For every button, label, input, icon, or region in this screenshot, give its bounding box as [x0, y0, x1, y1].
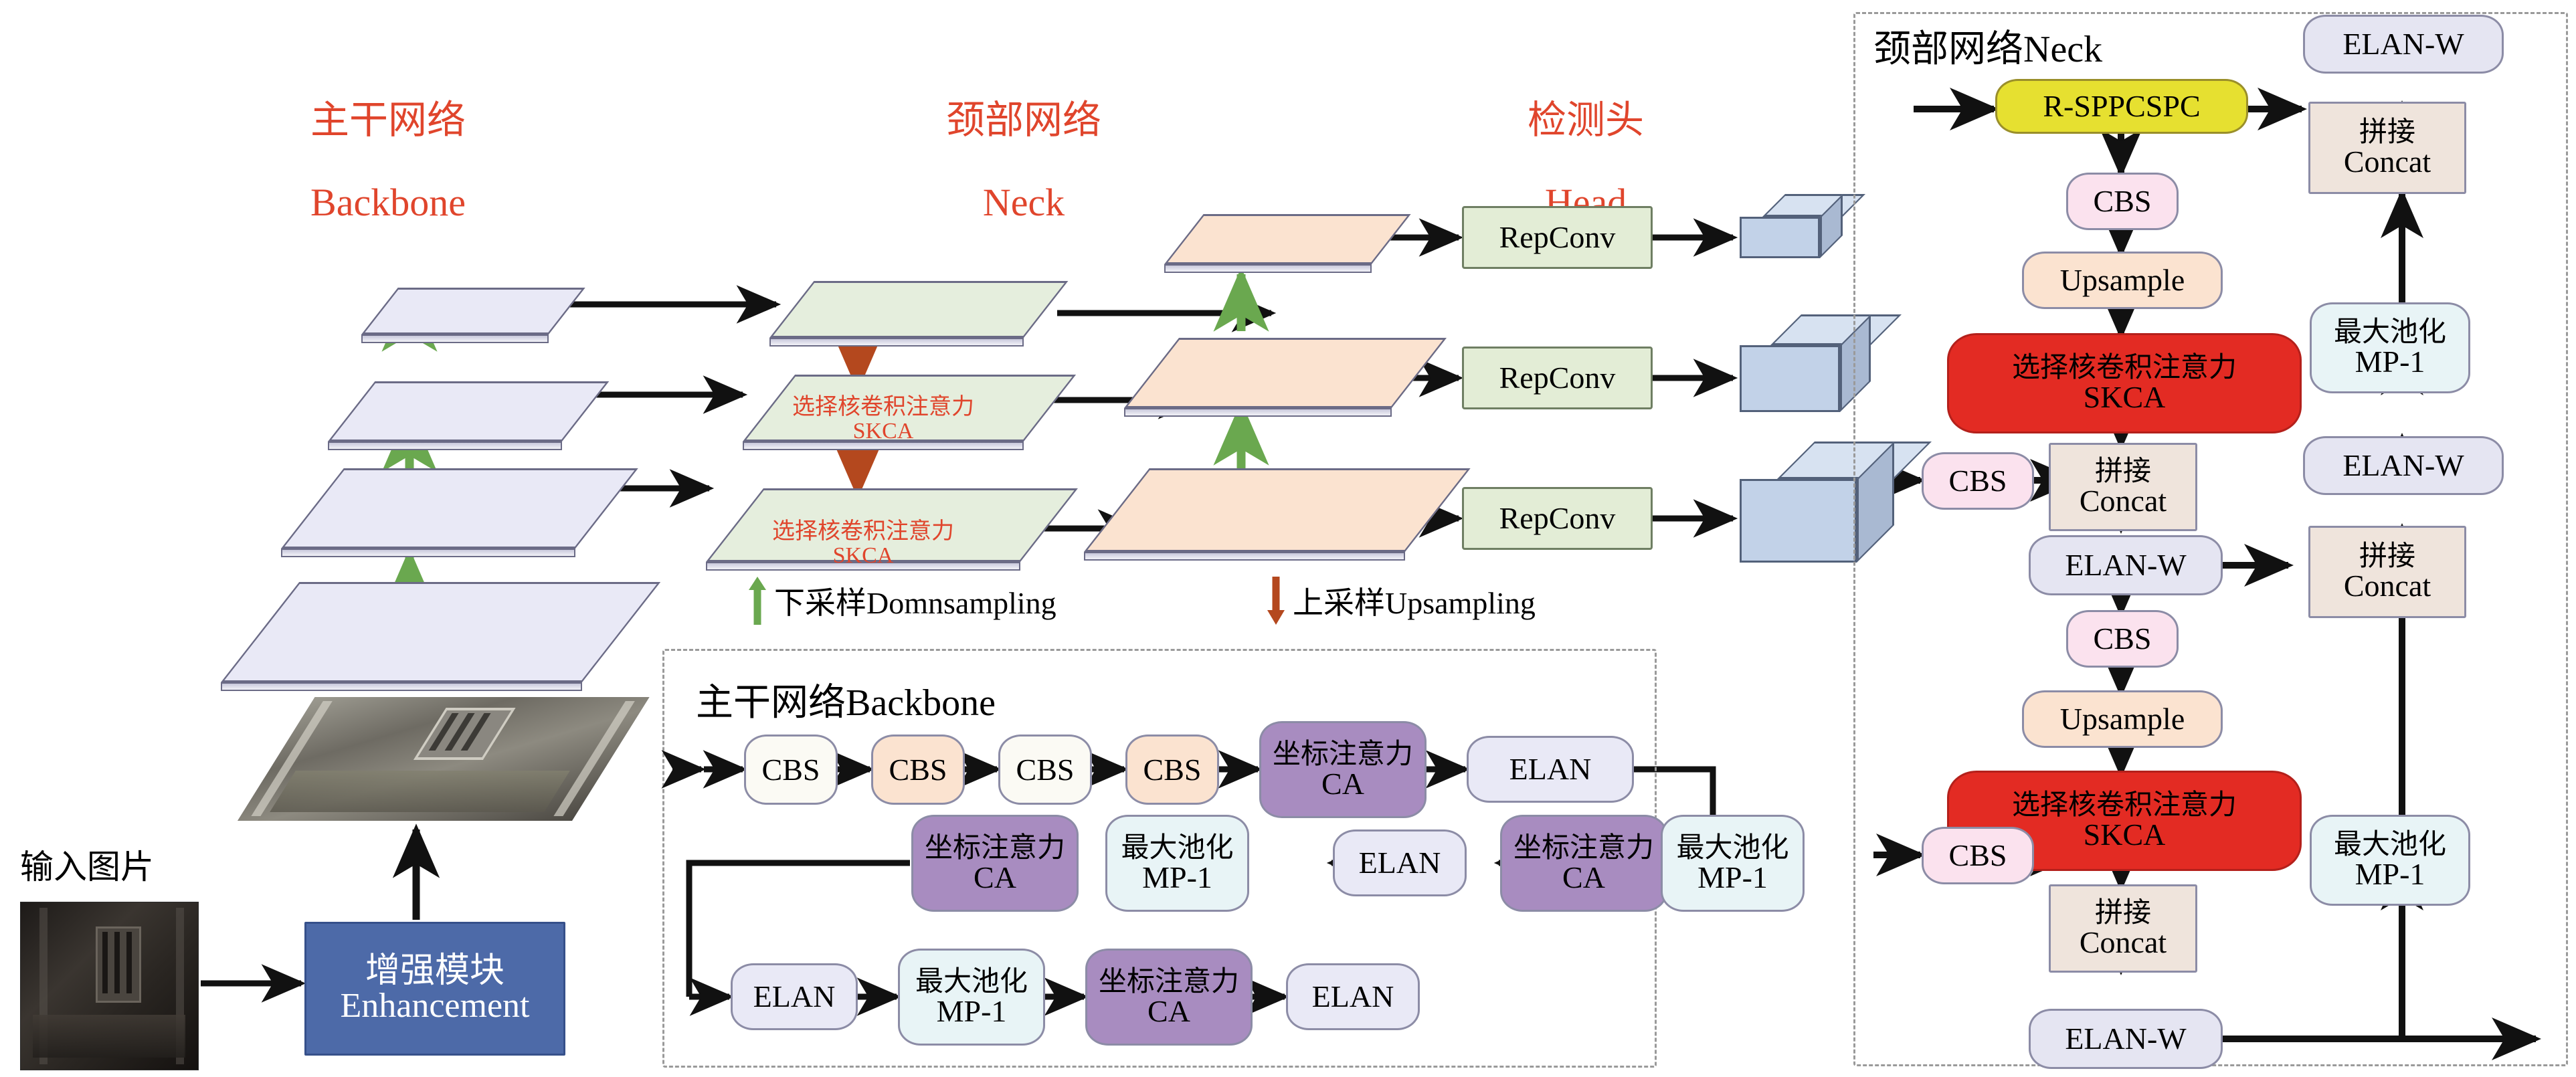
block-label-en: MP-1 [1142, 862, 1212, 893]
neck-block-cbs-top[interactable]: CBS [2066, 173, 2179, 230]
repconv-block-1[interactable]: RepConv [1462, 206, 1653, 269]
block-label-en: Concat [2344, 146, 2431, 177]
enhanced-image-thumbnail [238, 697, 650, 821]
block-label-en: MP-1 [2355, 347, 2425, 377]
block-label: ELAN-W [2342, 450, 2464, 481]
feature-map-edge [281, 549, 575, 557]
neck-feature-map-skca-1: 选择核卷积注意力SKCA [743, 375, 1024, 442]
backbone-block-elan-4[interactable]: ELAN [1286, 963, 1420, 1030]
neck-block-cbs-lower[interactable]: CBS [2066, 610, 2179, 668]
output-cube-small [1740, 194, 1860, 268]
block-label-en: Concat [2080, 927, 2167, 958]
neck-block-concat-lower[interactable]: 拼接 Concat [2049, 884, 2197, 973]
head-feature-map-3 [1164, 214, 1372, 264]
block-label-en: MP-1 [1697, 862, 1768, 893]
block-label: ELAN [753, 981, 836, 1012]
feature-map-edge [769, 338, 1024, 347]
cube-front-face [1740, 479, 1857, 563]
neck-block-concat-right[interactable]: 拼接 Concat [2308, 526, 2466, 618]
feature-map-surface [1084, 468, 1471, 552]
orange-down-arrow-icon [1265, 575, 1287, 626]
enhancement-module-block[interactable]: 增强模块 Enhancement [304, 922, 565, 1056]
repconv-block-2[interactable]: RepConv [1462, 347, 1653, 409]
backbone-block-ca-1[interactable]: 坐标注意力 CA [1259, 721, 1427, 818]
neck-block-mp1-lower[interactable]: 最大池化 MP-1 [2310, 815, 2470, 906]
block-label: R-SPPCSPC [2043, 91, 2200, 122]
repconv-label: RepConv [1499, 363, 1616, 393]
feature-map-surface [1164, 214, 1411, 264]
backbone-feature-map-2 [281, 468, 575, 549]
neck-block-upsample-lower[interactable]: Upsample [2022, 690, 2223, 748]
block-label-zh: 坐标注意力 [1099, 968, 1239, 996]
neck-feature-map-top [769, 281, 1024, 338]
feature-map-surface [221, 582, 660, 682]
neck-block-concat-topright[interactable]: 拼接 Concat [2308, 102, 2466, 194]
section-title-head: 检测头 Head [1465, 59, 1706, 223]
block-label: CBS [1949, 466, 2007, 496]
feature-map-surface [328, 381, 609, 442]
backbone-block-ca-2[interactable]: 坐标注意力 CA [911, 815, 1079, 912]
backbone-block-cbs-2[interactable]: CBS [871, 735, 965, 805]
block-label-en: SKCA [2084, 382, 2166, 413]
backbone-block-mp1-1[interactable]: 最大池化 MP-1 [1105, 815, 1249, 912]
neck-block-concat-top[interactable]: 拼接 Concat [2049, 443, 2197, 531]
block-label: CBS [2094, 623, 2152, 654]
block-label: CBS [762, 755, 820, 785]
feature-map-edge [706, 562, 1020, 571]
neck-block-cbs-side-lower[interactable]: CBS [1922, 827, 2034, 884]
block-label-zh: 最大池化 [1121, 834, 1233, 862]
neck-block-r-sppcspc[interactable]: R-SPPCSPC [1995, 79, 2248, 134]
section-title-neck: 颈部网络 Neck [890, 59, 1158, 223]
backbone-block-mp1-2[interactable]: 最大池化 MP-1 [1661, 815, 1805, 912]
backbone-feature-map-3 [328, 381, 562, 442]
feature-map-surface [706, 488, 1078, 562]
cube-top-face [1762, 194, 1865, 217]
block-label-zh: 最大池化 [915, 968, 1028, 996]
backbone-block-elan-1[interactable]: ELAN [1467, 736, 1634, 803]
block-label-en: MP-1 [937, 996, 1007, 1027]
legend-downsampling: 下采样Domnsampling [746, 575, 1056, 626]
backbone-block-cbs-4[interactable]: CBS [1125, 735, 1219, 805]
block-label: ELAN-W [2065, 1023, 2186, 1054]
block-label-zh: 选择核卷积注意力 [2012, 354, 2237, 382]
cube-front-face [1740, 345, 1840, 412]
legend-downsampling-label: 下采样Domnsampling [774, 579, 1056, 623]
backbone-block-elan-3[interactable]: ELAN [731, 963, 858, 1030]
neck-block-upsample-top[interactable]: Upsample [2022, 252, 2223, 309]
block-label-zh: 选择核卷积注意力 [2012, 791, 2237, 819]
block-label-zh: 坐标注意力 [925, 834, 1065, 862]
backbone-block-cbs-1[interactable]: CBS [744, 735, 838, 805]
block-label-en: MP-1 [2355, 859, 2425, 890]
block-label-en: CA [1562, 862, 1605, 893]
backbone-feature-map-1 [221, 582, 582, 682]
block-label-zh: 拼接 [2095, 899, 2151, 927]
backbone-block-cbs-3[interactable]: CBS [998, 735, 1092, 805]
feature-map-edge [1084, 552, 1405, 561]
feature-map-surface [361, 288, 585, 334]
block-label: Upsample [2060, 265, 2185, 296]
enhancement-label-en: Enhancement [341, 989, 530, 1023]
block-label-zh: 拼接 [2359, 118, 2415, 146]
backbone-block-ca-3[interactable]: 坐标注意力 CA [1500, 815, 1667, 912]
block-label: ELAN [1312, 981, 1394, 1012]
block-label-en: CA [1321, 769, 1364, 799]
block-label-zh: 坐标注意力 [1513, 834, 1654, 862]
enhancement-label-zh: 增强模块 [365, 954, 504, 989]
feature-map-edge [1124, 408, 1392, 417]
block-label: ELAN-W [2065, 550, 2186, 581]
repconv-label: RepConv [1499, 222, 1616, 253]
neck-feature-map-skca-2: 选择核卷积注意力SKCA [706, 488, 1020, 562]
block-label-zh: 坐标注意力 [1273, 741, 1413, 769]
legend-upsampling-label: 上采样Upsampling [1293, 579, 1536, 623]
feature-map-edge [361, 334, 549, 343]
block-label-zh: 拼接 [2359, 543, 2415, 571]
feature-map-surface [1124, 338, 1447, 408]
block-label-en: CA [1147, 996, 1190, 1027]
block-label-zh: 拼接 [2095, 458, 2151, 486]
feature-map-surface [743, 375, 1076, 442]
backbone-feature-map-4 [361, 288, 549, 334]
green-up-arrow-icon [746, 575, 769, 626]
neck-block-elanw-topright[interactable]: ELAN-W [2303, 15, 2504, 74]
repconv-label: RepConv [1499, 503, 1616, 534]
feature-map-edge [1164, 264, 1372, 273]
repconv-block-3[interactable]: RepConv [1462, 487, 1653, 550]
neck-block-cbs-side-top[interactable]: CBS [1922, 452, 2034, 510]
feature-map-edge [328, 442, 562, 450]
block-label-zh: 最大池化 [2334, 831, 2446, 859]
block-label: CBS [1949, 840, 2007, 871]
block-label-en: Concat [2080, 486, 2167, 516]
feature-map-edge [221, 682, 582, 691]
backbone-block-ca-4[interactable]: 坐标注意力 CA [1085, 949, 1253, 1046]
block-label: CBS [2094, 186, 2152, 217]
backbone-block-elan-2[interactable]: ELAN [1333, 829, 1467, 896]
block-label: CBS [1016, 755, 1075, 785]
block-label: ELAN [1509, 754, 1592, 785]
head-feature-map-2 [1124, 338, 1392, 408]
block-label-en: CA [974, 862, 1016, 893]
block-label-en: SKCA [2084, 819, 2166, 850]
neck-block-mp1-upper[interactable]: 最大池化 MP-1 [2310, 302, 2470, 393]
block-label-en: Concat [2344, 571, 2431, 601]
block-label-zh: 最大池化 [1676, 834, 1788, 862]
block-label: CBS [889, 755, 947, 785]
neck-block-skca-top[interactable]: 选择核卷积注意力 SKCA [1947, 333, 2302, 433]
block-label: ELAN-W [2342, 29, 2464, 60]
input-image-thumbnail [20, 902, 199, 1070]
block-label-zh: 最大池化 [2334, 318, 2446, 347]
legend-upsampling: 上采样Upsampling [1265, 575, 1536, 626]
head-feature-map-1 [1084, 468, 1405, 552]
block-label: CBS [1143, 755, 1202, 785]
feature-map-surface [769, 281, 1068, 338]
section-title-backbone: 主干网络 Backbone [268, 59, 509, 223]
backbone-panel-title: 主干网络Backbone [696, 672, 996, 726]
backbone-block-mp1-3[interactable]: 最大池化 MP-1 [898, 949, 1045, 1046]
neck-block-elanw-right[interactable]: ELAN-W [2303, 436, 2504, 495]
feature-map-edge [743, 442, 1024, 450]
block-label: ELAN [1359, 848, 1441, 878]
neck-panel-title: 颈部网络Neck [1873, 19, 2102, 73]
block-label: Upsample [2060, 704, 2185, 735]
neck-block-elanw-mid[interactable]: ELAN-W [2029, 535, 2223, 595]
neck-block-elanw-bottom[interactable]: ELAN-W [2029, 1009, 2223, 1069]
diagram-canvas: 主干网络 Backbone 颈部网络 Neck 检测头 Head 选择核卷积注意… [0, 0, 2576, 1077]
feature-map-surface [281, 468, 638, 549]
cube-front-face [1740, 217, 1820, 258]
